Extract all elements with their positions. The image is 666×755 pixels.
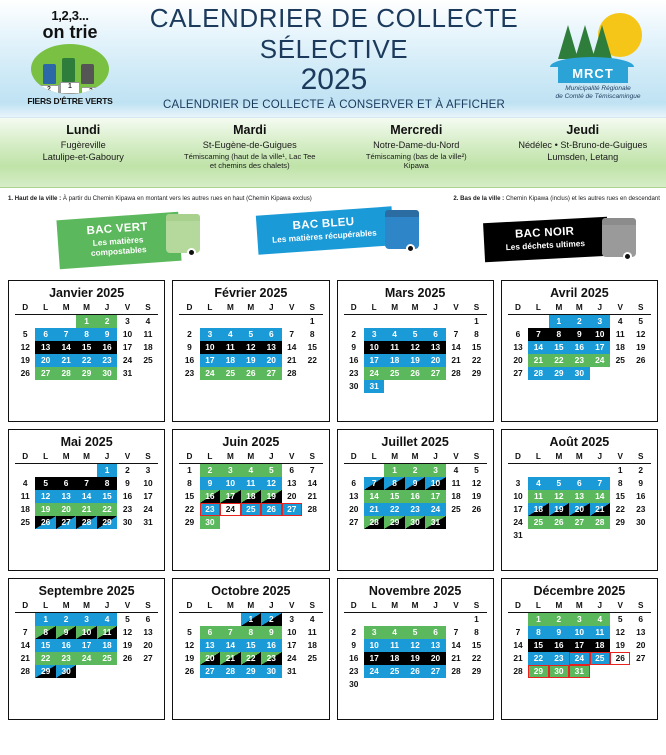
day-cell[interactable]: 28 [446, 665, 466, 678]
day-cell[interactable]: 17 [138, 490, 159, 503]
day-cell[interactable]: 8 [97, 477, 117, 490]
day-cell[interactable]: 17 [425, 490, 445, 503]
day-cell[interactable]: 14 [302, 477, 323, 490]
day-cell[interactable]: 22 [76, 354, 96, 367]
day-cell[interactable]: 2 [569, 315, 589, 329]
day-cell[interactable]: 19 [405, 652, 425, 665]
day-cell[interactable]: 1 [35, 613, 55, 627]
day-cell[interactable]: 1 [528, 613, 548, 627]
day-cell[interactable]: 17 [220, 490, 240, 503]
day-cell[interactable]: 2 [117, 464, 137, 478]
day-cell[interactable]: 15 [528, 639, 548, 652]
day-cell[interactable]: 18 [384, 652, 404, 665]
day-cell[interactable]: 25 [610, 354, 630, 367]
day-cell[interactable]: 17 [364, 652, 384, 665]
day-cell[interactable]: 23 [200, 503, 220, 516]
day-cell[interactable]: 11 [528, 490, 548, 503]
day-cell[interactable]: 28 [76, 516, 96, 529]
day-cell[interactable]: 25 [384, 665, 404, 678]
day-cell[interactable]: 27 [630, 652, 651, 665]
day-cell[interactable]: 25 [220, 367, 240, 380]
day-cell[interactable]: 30 [117, 516, 137, 529]
day-cell[interactable]: 28 [508, 665, 528, 678]
day-cell[interactable]: 1 [179, 464, 199, 478]
day-cell[interactable]: 28 [15, 665, 35, 678]
day-cell[interactable]: 8 [302, 328, 323, 341]
day-cell[interactable]: 26 [405, 367, 425, 380]
day-cell[interactable]: 30 [261, 665, 281, 678]
day-cell[interactable]: 4 [590, 613, 610, 627]
day-cell[interactable]: 4 [241, 464, 261, 478]
day-cell[interactable]: 24 [590, 354, 610, 367]
day-cell[interactable]: 11 [384, 341, 404, 354]
day-cell[interactable]: 11 [220, 341, 240, 354]
day-cell[interactable]: 10 [76, 626, 96, 639]
day-cell[interactable]: 19 [241, 354, 261, 367]
day-cell[interactable]: 9 [344, 341, 364, 354]
day-cell[interactable]: 30 [344, 678, 364, 691]
day-cell[interactable]: 4 [138, 315, 159, 329]
day-cell[interactable]: 22 [466, 652, 487, 665]
day-cell[interactable]: 31 [508, 529, 528, 542]
day-cell[interactable]: 10 [282, 626, 302, 639]
day-cell[interactable]: 12 [466, 477, 487, 490]
day-cell[interactable]: 16 [179, 354, 199, 367]
day-cell[interactable]: 7 [282, 328, 302, 341]
day-cell[interactable]: 21 [302, 490, 323, 503]
day-cell[interactable]: 26 [261, 503, 281, 516]
day-cell[interactable]: 31 [282, 665, 302, 678]
day-cell[interactable]: 1 [466, 315, 487, 329]
day-cell[interactable]: 17 [282, 639, 302, 652]
day-cell[interactable]: 30 [200, 516, 220, 529]
day-cell[interactable]: 26 [405, 665, 425, 678]
day-cell[interactable]: 20 [261, 354, 281, 367]
day-cell[interactable]: 5 [15, 328, 35, 341]
day-cell[interactable]: 16 [405, 490, 425, 503]
day-cell[interactable]: 13 [200, 639, 220, 652]
day-cell[interactable]: 31 [117, 367, 137, 380]
day-cell[interactable]: 7 [528, 328, 548, 341]
day-cell[interactable]: 26 [610, 652, 630, 665]
day-cell[interactable]: 8 [528, 626, 548, 639]
day-cell[interactable]: 2 [405, 464, 425, 478]
day-cell[interactable]: 22 [97, 503, 117, 516]
day-cell[interactable]: 9 [117, 477, 137, 490]
day-cell[interactable]: 14 [364, 490, 384, 503]
day-cell[interactable]: 6 [344, 477, 364, 490]
day-cell[interactable]: 26 [15, 367, 35, 380]
day-cell[interactable]: 9 [405, 477, 425, 490]
day-cell[interactable]: 19 [261, 490, 281, 503]
day-cell[interactable]: 3 [508, 477, 528, 490]
day-cell[interactable]: 29 [241, 665, 261, 678]
day-cell[interactable]: 21 [76, 503, 96, 516]
day-cell[interactable]: 15 [179, 490, 199, 503]
day-cell[interactable]: 7 [446, 328, 466, 341]
day-cell[interactable]: 8 [466, 328, 487, 341]
day-cell[interactable]: 18 [97, 639, 117, 652]
day-cell[interactable]: 13 [261, 341, 281, 354]
day-cell[interactable]: 25 [241, 503, 261, 516]
day-cell[interactable]: 11 [97, 626, 117, 639]
day-cell[interactable]: 3 [138, 464, 159, 478]
day-cell[interactable]: 5 [466, 464, 487, 478]
day-cell[interactable]: 1 [610, 464, 630, 478]
day-cell[interactable]: 24 [364, 665, 384, 678]
day-cell[interactable]: 21 [508, 652, 528, 665]
day-cell[interactable]: 19 [117, 639, 137, 652]
day-cell[interactable]: 4 [528, 477, 548, 490]
day-cell[interactable]: 23 [569, 354, 589, 367]
day-cell[interactable]: 2 [344, 328, 364, 341]
day-cell[interactable]: 28 [590, 516, 610, 529]
day-cell[interactable]: 29 [528, 665, 548, 678]
day-cell[interactable]: 14 [220, 639, 240, 652]
day-cell[interactable]: 10 [425, 477, 445, 490]
day-cell[interactable]: 17 [569, 639, 589, 652]
day-cell[interactable]: 28 [446, 367, 466, 380]
day-cell[interactable]: 11 [590, 626, 610, 639]
day-cell[interactable]: 2 [630, 464, 651, 478]
day-cell[interactable]: 10 [117, 328, 137, 341]
day-cell[interactable]: 8 [179, 477, 199, 490]
day-cell[interactable]: 21 [590, 503, 610, 516]
day-cell[interactable]: 17 [364, 354, 384, 367]
day-cell[interactable]: 7 [220, 626, 240, 639]
day-cell[interactable]: 21 [364, 503, 384, 516]
day-cell[interactable]: 30 [630, 516, 651, 529]
day-cell[interactable]: 11 [138, 328, 159, 341]
day-cell[interactable]: 24 [138, 503, 159, 516]
day-cell[interactable]: 23 [344, 665, 364, 678]
day-cell[interactable]: 12 [15, 341, 35, 354]
day-cell[interactable]: 7 [15, 626, 35, 639]
day-cell[interactable]: 15 [466, 639, 487, 652]
day-cell[interactable]: 17 [590, 341, 610, 354]
day-cell[interactable]: 11 [446, 477, 466, 490]
day-cell[interactable]: 21 [528, 354, 548, 367]
day-cell[interactable]: 5 [35, 477, 55, 490]
day-cell[interactable]: 27 [56, 516, 76, 529]
day-cell[interactable]: 16 [569, 341, 589, 354]
day-cell[interactable]: 25 [528, 516, 548, 529]
day-cell[interactable]: 17 [508, 503, 528, 516]
day-cell[interactable]: 9 [569, 328, 589, 341]
day-cell[interactable]: 24 [425, 503, 445, 516]
day-cell[interactable]: 6 [261, 328, 281, 341]
day-cell[interactable]: 6 [425, 626, 445, 639]
day-cell[interactable]: 26 [179, 665, 199, 678]
day-cell[interactable]: 29 [610, 516, 630, 529]
day-cell[interactable]: 20 [56, 503, 76, 516]
day-cell[interactable]: 10 [138, 477, 159, 490]
day-cell[interactable]: 31 [425, 516, 445, 529]
day-cell[interactable]: 12 [261, 477, 281, 490]
day-cell[interactable]: 15 [76, 341, 96, 354]
day-cell[interactable]: 17 [200, 354, 220, 367]
day-cell[interactable]: 26 [35, 516, 55, 529]
day-cell[interactable]: 30 [56, 665, 76, 678]
day-cell[interactable]: 22 [528, 652, 548, 665]
day-cell[interactable]: 20 [569, 503, 589, 516]
day-cell[interactable]: 13 [282, 477, 302, 490]
day-cell[interactable]: 4 [446, 464, 466, 478]
day-cell[interactable]: 4 [384, 626, 404, 639]
day-cell[interactable]: 1 [97, 464, 117, 478]
day-cell[interactable]: 20 [138, 639, 159, 652]
day-cell[interactable]: 25 [138, 354, 159, 367]
day-cell[interactable]: 2 [344, 626, 364, 639]
day-cell[interactable]: 1 [466, 613, 487, 627]
day-cell[interactable]: 5 [261, 464, 281, 478]
day-cell[interactable]: 10 [200, 341, 220, 354]
day-cell[interactable]: 31 [364, 380, 384, 393]
day-cell[interactable]: 18 [15, 503, 35, 516]
day-cell[interactable]: 24 [220, 503, 240, 516]
day-cell[interactable]: 5 [549, 477, 569, 490]
day-cell[interactable]: 5 [630, 315, 651, 329]
day-cell[interactable]: 19 [610, 639, 630, 652]
day-cell[interactable]: 13 [569, 490, 589, 503]
day-cell[interactable]: 3 [282, 613, 302, 627]
day-cell[interactable]: 16 [97, 341, 117, 354]
day-cell[interactable]: 6 [56, 477, 76, 490]
day-cell[interactable]: 16 [344, 652, 364, 665]
day-cell[interactable]: 1 [76, 315, 96, 329]
day-cell[interactable]: 18 [138, 341, 159, 354]
day-cell[interactable]: 19 [15, 354, 35, 367]
day-cell[interactable]: 5 [117, 613, 137, 627]
day-cell[interactable]: 25 [302, 652, 323, 665]
day-cell[interactable]: 14 [590, 490, 610, 503]
day-cell[interactable]: 2 [549, 613, 569, 627]
day-cell[interactable]: 9 [97, 328, 117, 341]
day-cell[interactable]: 23 [97, 354, 117, 367]
day-cell[interactable]: 14 [15, 639, 35, 652]
day-cell[interactable]: 22 [384, 503, 404, 516]
day-cell[interactable]: 16 [56, 639, 76, 652]
day-cell[interactable]: 22 [302, 354, 323, 367]
day-cell[interactable]: 9 [56, 626, 76, 639]
day-cell[interactable]: 16 [261, 639, 281, 652]
day-cell[interactable]: 12 [241, 341, 261, 354]
day-cell[interactable]: 14 [446, 341, 466, 354]
day-cell[interactable]: 4 [384, 328, 404, 341]
day-cell[interactable]: 29 [179, 516, 199, 529]
day-cell[interactable]: 22 [549, 354, 569, 367]
day-cell[interactable]: 6 [282, 464, 302, 478]
day-cell[interactable]: 13 [630, 626, 651, 639]
day-cell[interactable]: 26 [466, 503, 487, 516]
day-cell[interactable]: 18 [528, 503, 548, 516]
day-cell[interactable]: 16 [344, 354, 364, 367]
day-cell[interactable]: 4 [302, 613, 323, 627]
day-cell[interactable]: 24 [76, 652, 96, 665]
day-cell[interactable]: 18 [302, 639, 323, 652]
day-cell[interactable]: 7 [508, 626, 528, 639]
day-cell[interactable]: 30 [97, 367, 117, 380]
day-cell[interactable]: 20 [630, 639, 651, 652]
day-cell[interactable]: 14 [508, 639, 528, 652]
day-cell[interactable]: 11 [15, 490, 35, 503]
day-cell[interactable]: 12 [549, 490, 569, 503]
day-cell[interactable]: 22 [610, 503, 630, 516]
day-cell[interactable]: 4 [220, 328, 240, 341]
day-cell[interactable]: 12 [405, 639, 425, 652]
day-cell[interactable]: 9 [630, 477, 651, 490]
day-cell[interactable]: 15 [35, 639, 55, 652]
day-cell[interactable]: 24 [282, 652, 302, 665]
day-cell[interactable]: 26 [630, 354, 651, 367]
day-cell[interactable]: 21 [220, 652, 240, 665]
day-cell[interactable]: 10 [220, 477, 240, 490]
day-cell[interactable]: 12 [610, 626, 630, 639]
day-cell[interactable]: 2 [261, 613, 281, 627]
day-cell[interactable]: 16 [200, 490, 220, 503]
day-cell[interactable]: 4 [15, 477, 35, 490]
day-cell[interactable]: 23 [405, 503, 425, 516]
day-cell[interactable]: 17 [117, 341, 137, 354]
day-cell[interactable]: 12 [179, 639, 199, 652]
day-cell[interactable]: 29 [35, 665, 55, 678]
day-cell[interactable]: 16 [630, 490, 651, 503]
day-cell[interactable]: 1 [241, 613, 261, 627]
day-cell[interactable]: 29 [549, 367, 569, 380]
day-cell[interactable]: 13 [35, 341, 55, 354]
day-cell[interactable]: 27 [569, 516, 589, 529]
day-cell[interactable]: 30 [569, 367, 589, 380]
day-cell[interactable]: 27 [425, 367, 445, 380]
day-cell[interactable]: 19 [466, 490, 487, 503]
day-cell[interactable]: 25 [446, 503, 466, 516]
day-cell[interactable]: 3 [200, 328, 220, 341]
day-cell[interactable]: 13 [425, 639, 445, 652]
day-cell[interactable]: 31 [138, 516, 159, 529]
day-cell[interactable]: 24 [508, 516, 528, 529]
day-cell[interactable]: 26 [241, 367, 261, 380]
day-cell[interactable]: 15 [610, 490, 630, 503]
day-cell[interactable]: 20 [282, 490, 302, 503]
day-cell[interactable]: 5 [241, 328, 261, 341]
day-cell[interactable]: 25 [590, 652, 610, 665]
day-cell[interactable]: 23 [117, 503, 137, 516]
day-cell[interactable]: 1 [549, 315, 569, 329]
day-cell[interactable]: 18 [446, 490, 466, 503]
day-cell[interactable]: 24 [117, 354, 137, 367]
day-cell[interactable]: 10 [590, 328, 610, 341]
day-cell[interactable]: 8 [76, 328, 96, 341]
day-cell[interactable]: 6 [630, 613, 651, 627]
day-cell[interactable]: 22 [35, 652, 55, 665]
day-cell[interactable]: 20 [35, 354, 55, 367]
day-cell[interactable]: 1 [384, 464, 404, 478]
day-cell[interactable]: 27 [425, 665, 445, 678]
day-cell[interactable]: 7 [76, 477, 96, 490]
day-cell[interactable]: 7 [56, 328, 76, 341]
day-cell[interactable]: 27 [508, 367, 528, 380]
day-cell[interactable]: 18 [220, 354, 240, 367]
day-cell[interactable]: 9 [344, 639, 364, 652]
day-cell[interactable]: 21 [56, 354, 76, 367]
day-cell[interactable]: 14 [446, 639, 466, 652]
day-cell[interactable]: 27 [344, 516, 364, 529]
day-cell[interactable]: 7 [590, 477, 610, 490]
day-cell[interactable]: 13 [138, 626, 159, 639]
day-cell[interactable]: 10 [364, 639, 384, 652]
day-cell[interactable]: 15 [549, 341, 569, 354]
day-cell[interactable]: 28 [56, 367, 76, 380]
day-cell[interactable]: 24 [200, 367, 220, 380]
day-cell[interactable]: 7 [446, 626, 466, 639]
day-cell[interactable]: 5 [405, 626, 425, 639]
day-cell[interactable]: 27 [282, 503, 302, 516]
day-cell[interactable]: 20 [425, 652, 445, 665]
day-cell[interactable]: 15 [466, 341, 487, 354]
day-cell[interactable]: 29 [97, 516, 117, 529]
day-cell[interactable]: 13 [344, 490, 364, 503]
day-cell[interactable]: 8 [241, 626, 261, 639]
day-cell[interactable]: 19 [405, 354, 425, 367]
day-cell[interactable]: 20 [508, 354, 528, 367]
day-cell[interactable]: 5 [405, 328, 425, 341]
day-cell[interactable]: 11 [610, 328, 630, 341]
day-cell[interactable]: 30 [405, 516, 425, 529]
day-cell[interactable]: 13 [56, 490, 76, 503]
day-cell[interactable]: 27 [138, 652, 159, 665]
day-cell[interactable]: 23 [56, 652, 76, 665]
day-cell[interactable]: 10 [364, 341, 384, 354]
day-cell[interactable]: 17 [76, 639, 96, 652]
day-cell[interactable]: 21 [15, 652, 35, 665]
day-cell[interactable]: 6 [508, 328, 528, 341]
day-cell[interactable]: 22 [466, 354, 487, 367]
day-cell[interactable]: 3 [364, 328, 384, 341]
day-cell[interactable]: 23 [630, 503, 651, 516]
day-cell[interactable]: 4 [97, 613, 117, 627]
day-cell[interactable]: 3 [569, 613, 589, 627]
day-cell[interactable]: 8 [35, 626, 55, 639]
day-cell[interactable]: 28 [282, 367, 302, 380]
day-cell[interactable]: 11 [302, 626, 323, 639]
day-cell[interactable]: 26 [549, 516, 569, 529]
day-cell[interactable]: 6 [425, 328, 445, 341]
day-cell[interactable]: 7 [302, 464, 323, 478]
day-cell[interactable]: 16 [549, 639, 569, 652]
day-cell[interactable]: 24 [364, 367, 384, 380]
day-cell[interactable]: 28 [220, 665, 240, 678]
day-cell[interactable]: 23 [549, 652, 569, 665]
day-cell[interactable]: 20 [200, 652, 220, 665]
day-cell[interactable]: 29 [384, 516, 404, 529]
day-cell[interactable]: 21 [446, 652, 466, 665]
day-cell[interactable]: 1 [302, 315, 323, 329]
day-cell[interactable]: 8 [466, 626, 487, 639]
day-cell[interactable]: 8 [384, 477, 404, 490]
day-cell[interactable]: 22 [241, 652, 261, 665]
day-cell[interactable]: 13 [508, 341, 528, 354]
day-cell[interactable]: 16 [117, 490, 137, 503]
day-cell[interactable]: 24 [569, 652, 589, 665]
day-cell[interactable]: 27 [35, 367, 55, 380]
day-cell[interactable]: 28 [364, 516, 384, 529]
day-cell[interactable]: 3 [364, 626, 384, 639]
day-cell[interactable]: 14 [528, 341, 548, 354]
day-cell[interactable]: 15 [302, 341, 323, 354]
day-cell[interactable]: 14 [282, 341, 302, 354]
day-cell[interactable]: 13 [425, 341, 445, 354]
day-cell[interactable]: 15 [97, 490, 117, 503]
